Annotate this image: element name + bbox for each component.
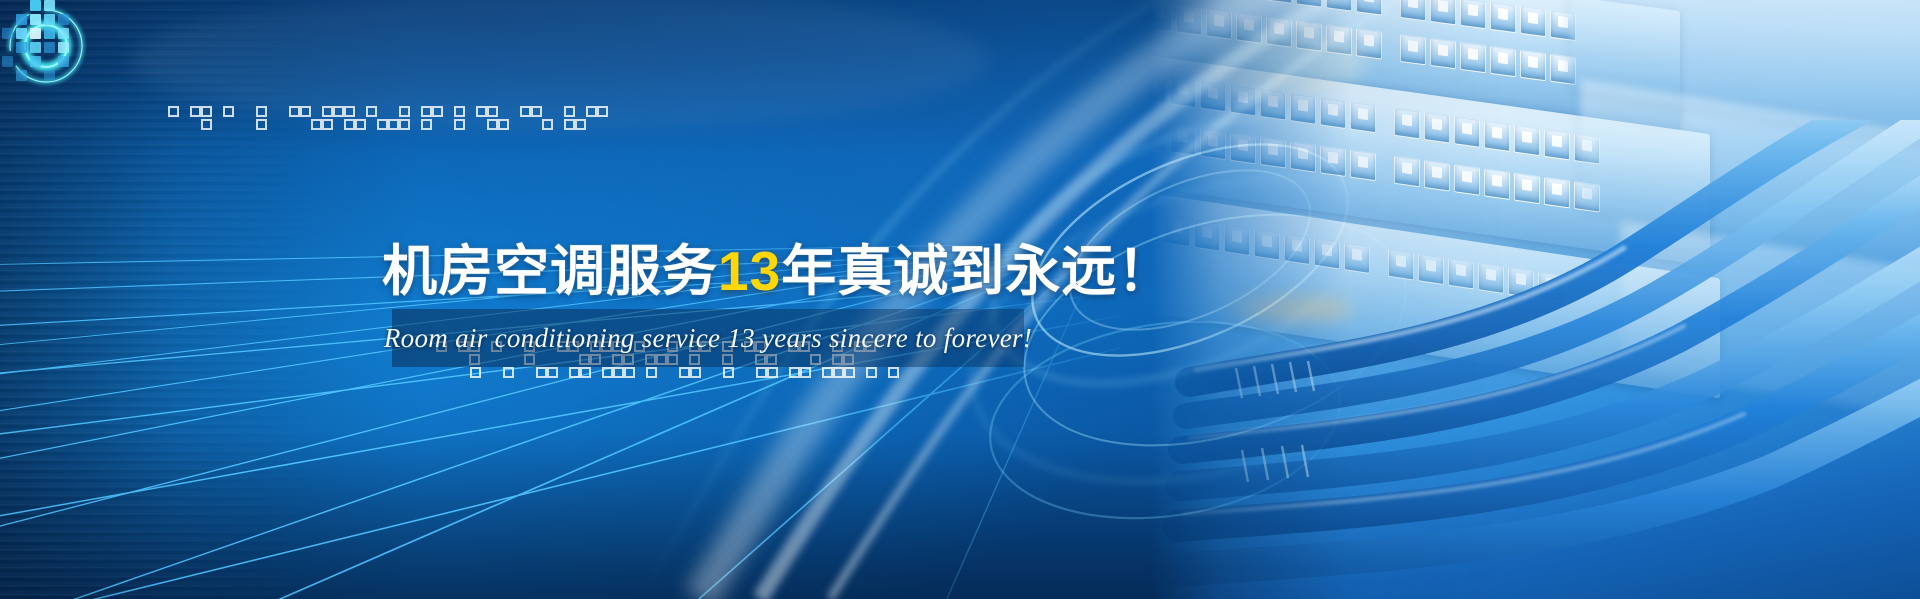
amber-glint <box>1232 296 1352 322</box>
subtitle: Room air conditioning service 13 years s… <box>392 309 1024 367</box>
text-block: 机房空调服务13年真诚到永远！ Room air conditioning se… <box>0 0 1150 599</box>
headline-suffix: 年真诚到永远！ <box>781 240 1173 302</box>
ethernet-cable-bundle <box>1150 120 1920 599</box>
headline-prefix: 机房空调服务 <box>382 240 718 302</box>
hero-banner: 机房空调服务13年真诚到永远！ Room air conditioning se… <box>0 0 1920 599</box>
server-room-photo <box>1150 0 1920 599</box>
headline: 机房空调服务13年真诚到永远！ <box>382 239 1173 303</box>
subtitle-band: Room air conditioning service 13 years s… <box>392 309 1024 367</box>
headline-highlight-years: 13 <box>718 240 781 302</box>
warm-highlight <box>1186 32 1366 92</box>
